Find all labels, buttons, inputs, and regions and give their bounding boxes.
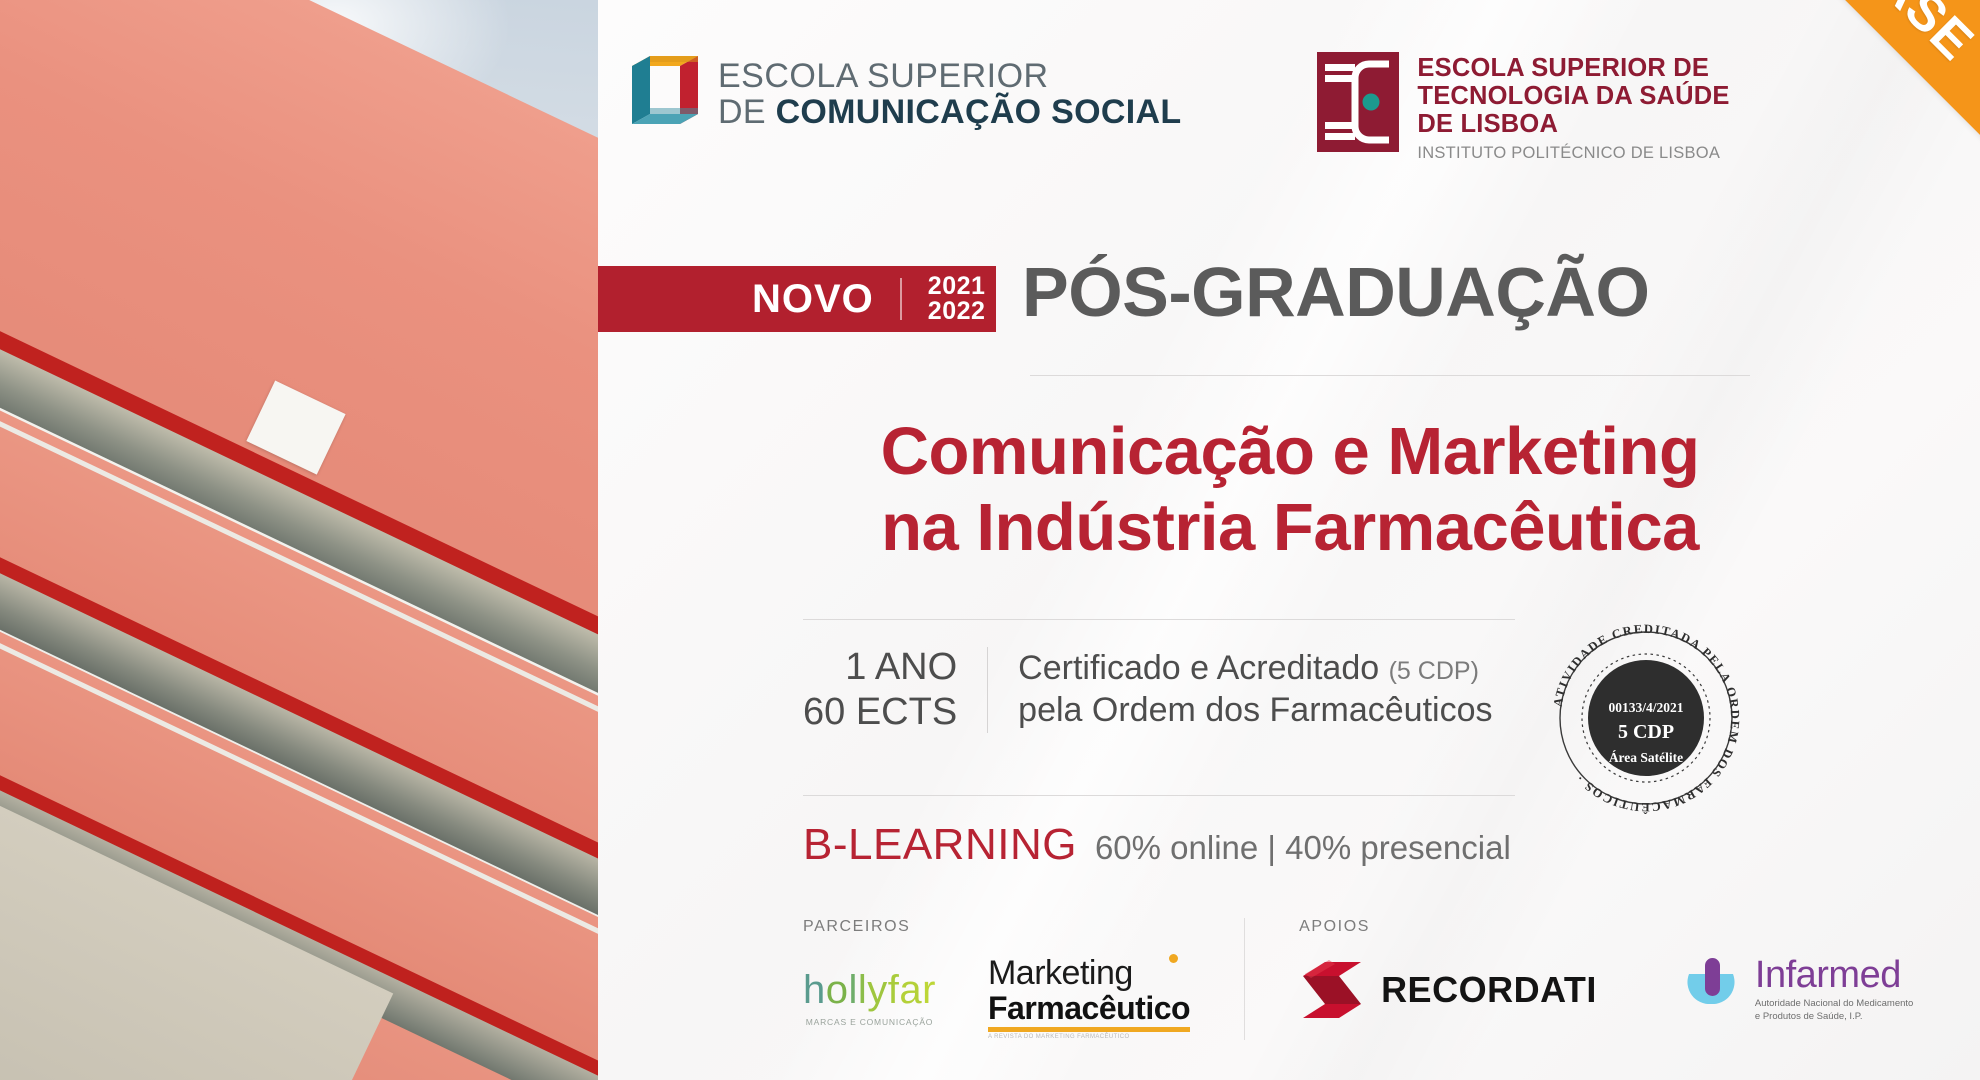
mf-micro-text: A REVISTA DO MARKETING FARMACÊUTICO (988, 1034, 1190, 1040)
escs-line1: ESCOLA SUPERIOR (718, 58, 1181, 94)
seal-cdp-text: 5 CDP (1618, 721, 1674, 743)
learning-mode: B-LEARNING (803, 820, 1077, 870)
estesl-logo-text: ESCOLA SUPERIOR DE TECNOLOGIA DA SAÚDE D… (1417, 52, 1729, 162)
escs-logo-text: ESCOLA SUPERIOR DE COMUNICAÇÃO SOCIAL (718, 58, 1181, 130)
poster-canvas: 2ª FASE ESCOLA SUPERIOR DE CO (0, 0, 1980, 1080)
escs-line2-light: DE (718, 93, 776, 131)
certification-line2: pela Ordem dos Farmacêuticos (1018, 690, 1492, 731)
divider-bottom (803, 795, 1515, 796)
estesl-mark-icon (1317, 52, 1399, 152)
hollyfar-wordmark: hollyfar (803, 970, 936, 1010)
estesl-logo: ESCOLA SUPERIOR DE TECNOLOGIA DA SAÚDE D… (1317, 52, 1729, 162)
certification-cdp: (5 CDP) (1389, 657, 1479, 685)
estesl-line1: ESCOLA SUPERIOR DE (1417, 54, 1729, 82)
certification-block: Certificado e Acreditado (5 CDP) pela Or… (1018, 648, 1492, 731)
infarmed-wordmark: Infarmed (1755, 956, 1913, 994)
estesl-line3: DE LISBOA (1417, 110, 1729, 138)
mf-line2: Farmacêutico (988, 992, 1190, 1024)
institution-logo-row: ESCOLA SUPERIOR DE COMUNICAÇÃO SOCIAL (628, 52, 1958, 172)
infarmed-sub-line1: Autoridade Nacional do Medicamento (1755, 998, 1913, 1011)
footer-vertical-divider (1244, 918, 1245, 1040)
recordati-mark-icon (1299, 960, 1365, 1020)
estesl-line2: TECNOLOGIA DA SAÚDE (1417, 82, 1729, 110)
marketing-farmaceutico-logo: Marketing Farmacêutico A REVISTA DO MARK… (988, 956, 1190, 1040)
hollyfar-tagline: MARCAS E COMUNICAÇÃO (806, 1017, 933, 1027)
year-end: 2022 (928, 299, 986, 324)
learning-format-row: B-LEARNING 60% online | 40% presencial (803, 820, 1511, 870)
partners-label: PARCEIROS (803, 918, 1190, 936)
novo-label: NOVO (752, 277, 874, 322)
year-start: 2021 (928, 274, 986, 299)
mf-line1: Marketing (988, 956, 1190, 990)
footer-logos: PARCEIROS hollyfar MARCAS E COMUNICAÇÃO … (803, 918, 1963, 1040)
certification-line1: Certificado e Acreditado (5 CDP) (1018, 648, 1492, 689)
infarmed-subtitle: Autoridade Nacional do Medicamento e Pro… (1755, 998, 1913, 1024)
building-photo (0, 0, 598, 1080)
infarmed-logo: Infarmed Autoridade Nacional do Medicame… (1683, 956, 1913, 1024)
hollyfar-logo: hollyfar MARCAS E COMUNICAÇÃO (803, 970, 936, 1027)
supporters-label: APOIOS (1299, 918, 1913, 936)
infarmed-text: Infarmed Autoridade Nacional do Medicame… (1755, 956, 1913, 1024)
details-vertical-divider (987, 647, 988, 733)
divider-top (1030, 375, 1750, 376)
course-title-line1: Comunicação e Marketing (640, 414, 1940, 490)
infarmed-mark-icon (1683, 956, 1743, 1014)
duration-block: 1 ANO 60 ECTS (803, 645, 957, 735)
program-type-heading: PÓS-GRADUAÇÃO (1022, 252, 1649, 332)
escs-line2-bold: COMUNICAÇÃO SOCIAL (776, 93, 1182, 131)
estesl-subtitle: INSTITUTO POLITÉCNICO DE LISBOA (1417, 144, 1729, 162)
content-panel: 2ª FASE ESCOLA SUPERIOR DE CO (598, 0, 1980, 1080)
duration-ects: 60 ECTS (803, 690, 957, 735)
escs-line2: DE COMUNICAÇÃO SOCIAL (718, 94, 1181, 130)
seal-area-text: Área Satélite (1609, 750, 1683, 765)
course-details-row: 1 ANO 60 ECTS Certificado e Acreditado (… (803, 645, 1492, 735)
seal-code-text: 00133/4/2021 (1608, 700, 1683, 715)
accreditation-seal: ATIVIDADE CREDITADA PELA ORDEM DOS FARMA… (1540, 612, 1752, 824)
mf-line1-text: Marketing (988, 954, 1133, 992)
duration-years: 1 ANO (803, 645, 957, 690)
academic-year: 2021 2022 (928, 274, 986, 324)
course-title: Comunicação e Marketing na Indústria Far… (640, 414, 1940, 565)
supporters-logo-group: RECORDATI Infarmed Autoridade (1299, 956, 1913, 1024)
supporters-column: APOIOS RECORDATI (1299, 918, 1913, 1040)
divider-middle (803, 619, 1515, 620)
mf-dot-icon (1169, 954, 1178, 963)
escs-cube-icon (628, 52, 702, 136)
recordati-logo: RECORDATI (1299, 960, 1597, 1020)
course-title-line2: na Indústria Farmacêutica (640, 490, 1940, 566)
infarmed-sub-line2: e Produtos de Saúde, I.P. (1755, 1011, 1913, 1024)
escs-logo: ESCOLA SUPERIOR DE COMUNICAÇÃO SOCIAL (628, 52, 1181, 136)
certification-main: Certificado e Acreditado (1018, 649, 1388, 687)
novo-divider (900, 278, 902, 320)
mf-underline (988, 1027, 1190, 1032)
partners-logo-group: hollyfar MARCAS E COMUNICAÇÃO Marketing … (803, 956, 1190, 1040)
partners-column: PARCEIROS hollyfar MARCAS E COMUNICAÇÃO … (803, 918, 1190, 1040)
learning-split: 60% online | 40% presencial (1095, 829, 1511, 867)
recordati-wordmark: RECORDATI (1381, 969, 1597, 1011)
novo-badge-bar: NOVO 2021 2022 (598, 266, 996, 332)
